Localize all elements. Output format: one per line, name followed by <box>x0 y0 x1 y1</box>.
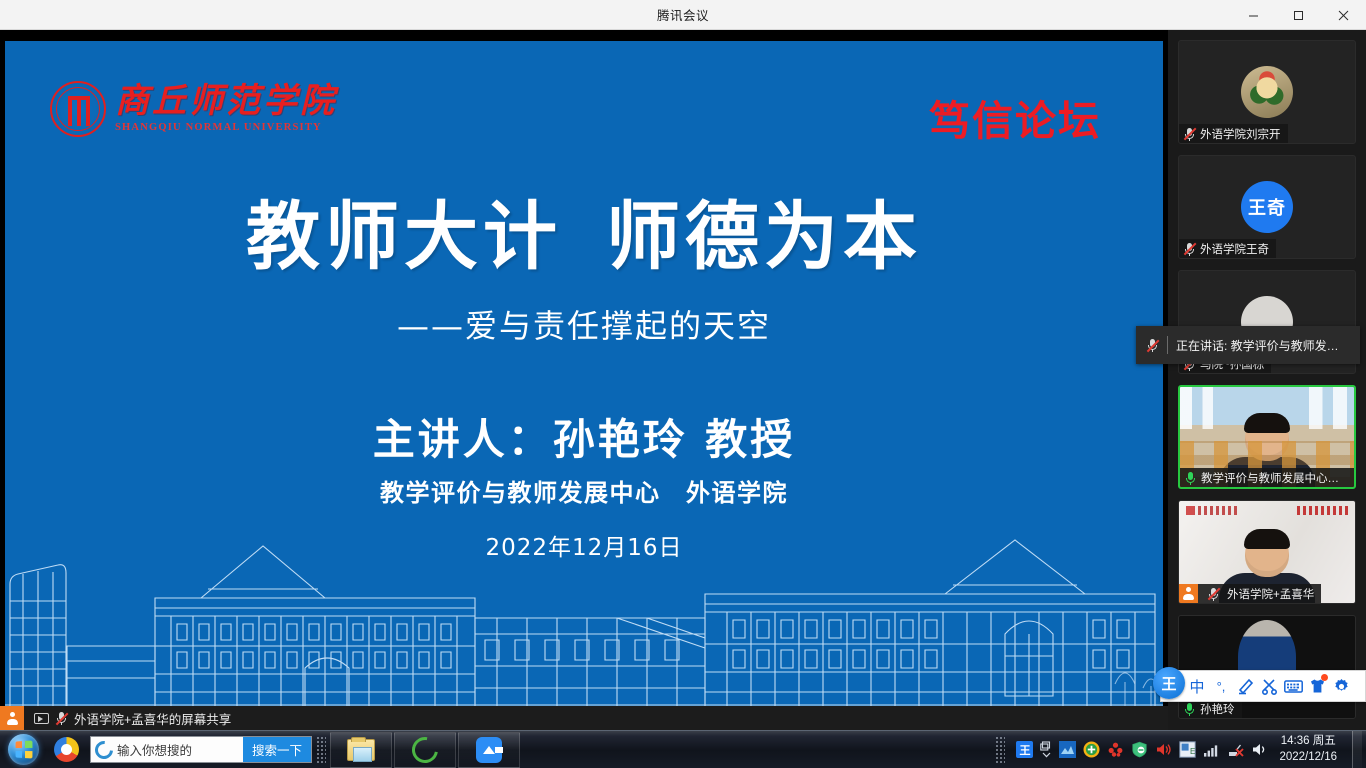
slide-subheadline: ——爱与责任撑起的天空 <box>5 301 1163 347</box>
presentation-slide: 商丘师范学院 SHANGQIU NORMAL UNIVERSITY 笃信论坛 教… <box>5 41 1163 706</box>
slide-speaker: 主讲人：孙艳玲 教授 <box>5 406 1163 467</box>
ie-icon <box>91 741 117 759</box>
host-badge-icon <box>0 706 24 730</box>
university-name-cn: 商丘师范学院 <box>115 84 337 118</box>
tray-ime-icon[interactable]: 王 <box>1016 741 1033 758</box>
volume-icon[interactable] <box>1251 741 1268 758</box>
now-speaking-text: 正在讲话: 教学评价与教师发展... <box>1176 337 1344 354</box>
start-button[interactable] <box>0 732 46 768</box>
headline-left: 教师大计 <box>246 194 562 280</box>
screen-share-status-bar: 外语学院+孟喜华的屏幕共享 <box>0 706 1168 730</box>
participant-name: 孙艳玲 <box>1200 701 1235 717</box>
360-browser-launcher[interactable] <box>46 732 86 768</box>
meeting-window: 腾讯会议 商丘师范学院 SHANGQIU NORMAL UNIVERSIT <box>0 0 1366 768</box>
participant-tile-active-speaker[interactable]: 教学评价与教师发展中心孟现... <box>1178 385 1356 489</box>
ime-settings-gear-icon[interactable] <box>1329 671 1353 701</box>
search-box[interactable]: 输入你想搜的 搜索一下 <box>90 736 312 763</box>
360-browser-icon <box>54 737 79 762</box>
clock-time: 14:36 周五 <box>1279 734 1337 750</box>
chevron-down-icon <box>1042 752 1051 758</box>
signal-icon[interactable] <box>1203 741 1220 758</box>
clock-date: 2022/12/16 <box>1279 750 1337 766</box>
show-desktop-button[interactable] <box>1352 731 1362 768</box>
window-title: 腾讯会议 <box>0 5 1366 24</box>
host-badge-icon <box>1179 584 1198 603</box>
forum-badge: 笃信论坛 <box>929 87 1101 147</box>
slide-headline: 教师大计师德为本 <box>5 199 1163 277</box>
search-button[interactable]: 搜索一下 <box>243 737 311 762</box>
plus-circle-icon[interactable] <box>1083 741 1100 758</box>
participant-tile[interactable]: 外语学院刘宗开 <box>1178 40 1356 144</box>
shield-icon[interactable] <box>1131 741 1148 758</box>
mic-muted-icon <box>1183 127 1196 141</box>
ime-skin-shirt-icon[interactable] <box>1305 671 1329 701</box>
now-speaking-toast: 正在讲话: 教学评价与教师发展... <box>1136 326 1360 364</box>
university-logo: 商丘师范学院 SHANGQIU NORMAL UNIVERSITY <box>50 81 337 137</box>
mic-muted-icon <box>1146 338 1159 352</box>
search-input-placeholder[interactable]: 输入你想搜的 <box>117 740 243 759</box>
meeting-body: 商丘师范学院 SHANGQIU NORMAL UNIVERSITY 笃信论坛 教… <box>0 30 1366 730</box>
ime-keyboard-icon[interactable] <box>1281 671 1305 701</box>
flower-icon[interactable] <box>1107 741 1124 758</box>
participant-tile[interactable]: 王奇 外语学院王奇 <box>1178 155 1356 259</box>
participant-rail[interactable]: 外语学院刘宗开 王奇 外语学院王奇 <box>1168 30 1366 730</box>
system-tray: 王 E 14:36 周五 2022/12/16 <box>991 731 1366 768</box>
participant-label: 外语学院刘宗开 <box>1179 124 1288 143</box>
participant-label: 教学评价与教师发展中心孟现... <box>1180 468 1354 487</box>
windows-start-icon <box>8 734 39 765</box>
svg-text:E: E <box>1190 747 1195 756</box>
participant-name: 教学评价与教师发展中心孟现... <box>1201 470 1347 486</box>
tray-overflow[interactable] <box>1040 741 1052 758</box>
speaker-icon[interactable] <box>1155 741 1172 758</box>
campus-building-illustration <box>5 506 1163 706</box>
toolbar-grip[interactable] <box>316 736 326 764</box>
avatar: 王奇 <box>1241 181 1293 233</box>
tencent-meeting-icon <box>476 737 502 763</box>
participant-name: 外语学院王奇 <box>1200 241 1269 257</box>
toast-divider <box>1167 336 1168 354</box>
university-seal-icon <box>50 81 106 137</box>
taskbar-app-tencent-meeting[interactable] <box>458 732 520 768</box>
ime-logo-icon[interactable]: 王 <box>1153 667 1185 699</box>
title-bar: 腾讯会议 <box>0 0 1366 30</box>
mic-active-icon <box>1183 702 1196 716</box>
taskbar-app-explorer[interactable] <box>330 732 392 768</box>
overlay-forum-badge-icon <box>1297 506 1349 515</box>
participant-label: 外语学院+孟喜华 <box>1179 584 1321 603</box>
maximize-button[interactable] <box>1276 0 1321 30</box>
ime-pen-icon[interactable] <box>1233 671 1257 701</box>
screen-share-icon <box>34 713 49 724</box>
mic-muted-icon <box>1207 587 1220 601</box>
minimize-button[interactable] <box>1231 0 1276 30</box>
overlay-university-logo-icon <box>1186 506 1238 515</box>
ime-toolbar[interactable]: 王 中 °, <box>1160 670 1366 702</box>
mountain-icon[interactable] <box>1059 741 1076 758</box>
window-icon <box>1040 741 1052 751</box>
mic-muted-icon <box>55 711 68 725</box>
app-icon[interactable]: E <box>1179 741 1196 758</box>
participant-name: 外语学院刘宗开 <box>1200 126 1281 142</box>
folder-icon <box>347 739 375 761</box>
tray-grip[interactable] <box>995 736 1005 764</box>
slide-affiliation: 教学评价与教师发展中心 外语学院 <box>5 473 1163 508</box>
window-controls <box>1231 0 1366 30</box>
e-360-icon <box>407 731 443 767</box>
headline-right: 师德为本 <box>606 194 922 280</box>
participant-tile[interactable]: 外语学院+孟喜华 <box>1178 500 1356 604</box>
participant-tile[interactable]: 孙艳玲 <box>1178 615 1356 719</box>
mic-muted-icon <box>1183 242 1196 256</box>
participant-name: 外语学院+孟喜华 <box>1227 586 1314 602</box>
university-name-en: SHANGQIU NORMAL UNIVERSITY <box>115 123 337 134</box>
share-status-text: 外语学院+孟喜华的屏幕共享 <box>74 709 231 728</box>
clock[interactable]: 14:36 周五 2022/12/16 <box>1275 734 1345 765</box>
ime-scissors-icon[interactable] <box>1257 671 1281 701</box>
ime-punctuation-button[interactable]: °, <box>1209 671 1233 701</box>
participant-label: 外语学院王奇 <box>1179 239 1276 258</box>
avatar <box>1241 66 1293 118</box>
taskbar-app-360-browser[interactable] <box>394 732 456 768</box>
shared-screen-stage[interactable]: 商丘师范学院 SHANGQIU NORMAL UNIVERSITY 笃信论坛 教… <box>0 30 1168 730</box>
mic-active-icon <box>1184 471 1197 485</box>
taskbar: 输入你想搜的 搜索一下 王 E 14:36 周五 2022/12 <box>0 730 1366 768</box>
ime-language-mode-button[interactable]: 中 <box>1185 671 1209 701</box>
network-error-icon[interactable] <box>1227 741 1244 758</box>
close-button[interactable] <box>1321 0 1366 30</box>
notification-dot <box>1321 674 1328 681</box>
